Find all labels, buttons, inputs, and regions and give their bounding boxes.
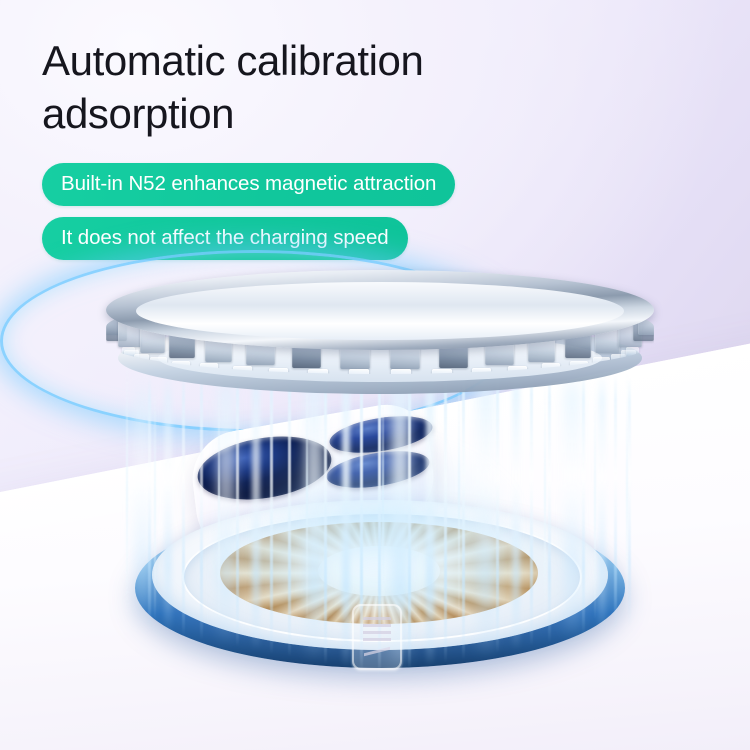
ring-segment-lower [570, 361, 587, 374]
field-beam [614, 375, 617, 629]
product-banner: Automatic calibration adsorption Built-i… [0, 0, 750, 750]
ring-segment-lower [508, 366, 527, 374]
ring-segment-lower [200, 363, 218, 374]
field-spark [154, 386, 156, 621]
ring-segment-lower [542, 363, 560, 374]
ring-segment-lower [391, 369, 411, 374]
ring-segment-lower [150, 357, 166, 371]
field-beam [582, 372, 585, 636]
product-illustration [0, 250, 750, 750]
page-title: Automatic calibration adsorption [42, 34, 642, 141]
ring-segment-lower [308, 369, 328, 374]
headline-line-2: adsorption [42, 87, 642, 140]
field-beam [628, 377, 631, 627]
ring-upper-inner [136, 282, 624, 340]
ring-segment-lower [626, 347, 639, 358]
ring-segment-lower [349, 369, 369, 374]
field-beam [148, 375, 151, 629]
ring-segment-lower [134, 354, 149, 367]
field-beam [598, 374, 606, 633]
magnet-ring [100, 270, 660, 400]
watermark-bars [363, 617, 391, 643]
field-spark [594, 382, 596, 620]
field-beam [164, 374, 172, 633]
ring-segment-lower [233, 366, 252, 374]
field-spark [126, 366, 128, 616]
ring-segment-lower [593, 357, 609, 371]
ring-segment-lower [472, 368, 491, 374]
badge-magnet: Built-in N52 enhances magnetic attractio… [42, 163, 455, 206]
field-spark [626, 368, 628, 616]
ring-segment-lower [432, 369, 452, 374]
badge-row-1: Built-in N52 enhances magnetic attractio… [42, 163, 455, 206]
brand-watermark [352, 604, 402, 670]
headline-line-1: Automatic calibration [42, 34, 642, 87]
ring-segment-lower [172, 361, 189, 374]
watermark-chevron [364, 647, 390, 666]
ring-segment-lower [269, 368, 288, 374]
